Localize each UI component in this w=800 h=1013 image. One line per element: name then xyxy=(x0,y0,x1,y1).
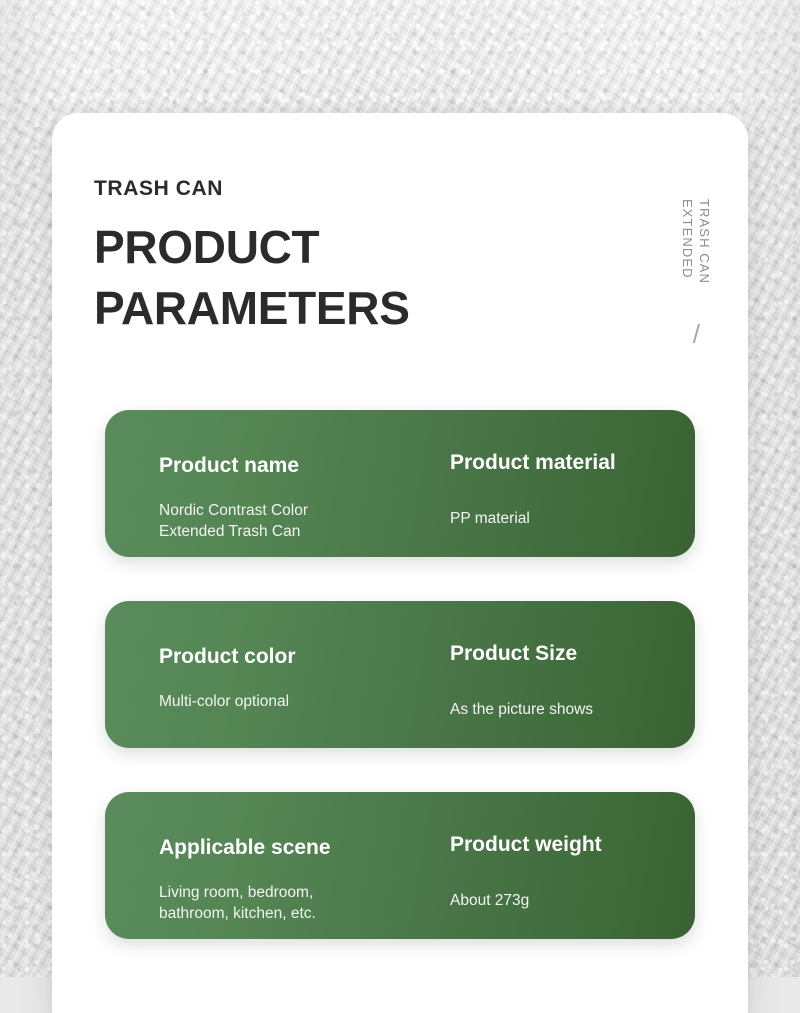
spec-card: Product name Nordic Contrast Color Exten… xyxy=(105,410,695,557)
spec-field-product-color: Product color Multi-color optional xyxy=(159,601,449,748)
spec-value: As the picture shows xyxy=(450,700,593,721)
side-caption-line-2: TRASH CAN xyxy=(696,199,712,284)
spec-label: Product Size xyxy=(450,642,577,666)
side-caption-line-1: EXTENDED xyxy=(679,199,695,279)
spec-label: Product color xyxy=(159,645,296,669)
spec-value: Multi-color optional xyxy=(159,692,289,713)
spec-label: Applicable scene xyxy=(159,836,331,860)
slash-divider: / xyxy=(693,321,700,347)
spec-card: Product color Multi-color optional Produ… xyxy=(105,601,695,748)
spec-card: Applicable scene Living room, bedroom, b… xyxy=(105,792,695,939)
spec-field-product-size: Product Size As the picture shows xyxy=(450,601,690,748)
spec-label: Product material xyxy=(450,451,616,475)
spec-value: Nordic Contrast Color Extended Trash Can xyxy=(159,501,308,543)
spec-value: PP material xyxy=(450,509,530,530)
product-parameters-panel: TRASH CAN PRODUCT PARAMETERS EXTENDED TR… xyxy=(52,113,748,1013)
page-title: PRODUCT PARAMETERS xyxy=(94,217,574,338)
spec-value: About 273g xyxy=(450,891,529,912)
spec-field-product-weight: Product weight About 273g xyxy=(450,792,690,939)
side-caption: EXTENDED TRASH CAN xyxy=(679,199,713,399)
spec-label: Product name xyxy=(159,454,299,478)
spec-label: Product weight xyxy=(450,833,602,857)
spec-card-list: Product name Nordic Contrast Color Exten… xyxy=(105,410,695,939)
eyebrow-label: TRASH CAN xyxy=(94,178,574,199)
spec-field-product-material: Product material PP material xyxy=(450,410,690,557)
page-header: TRASH CAN PRODUCT PARAMETERS xyxy=(94,178,574,338)
spec-field-product-name: Product name Nordic Contrast Color Exten… xyxy=(159,410,449,557)
spec-value: Living room, bedroom, bathroom, kitchen,… xyxy=(159,883,316,925)
spec-field-applicable-scene: Applicable scene Living room, bedroom, b… xyxy=(159,792,449,939)
